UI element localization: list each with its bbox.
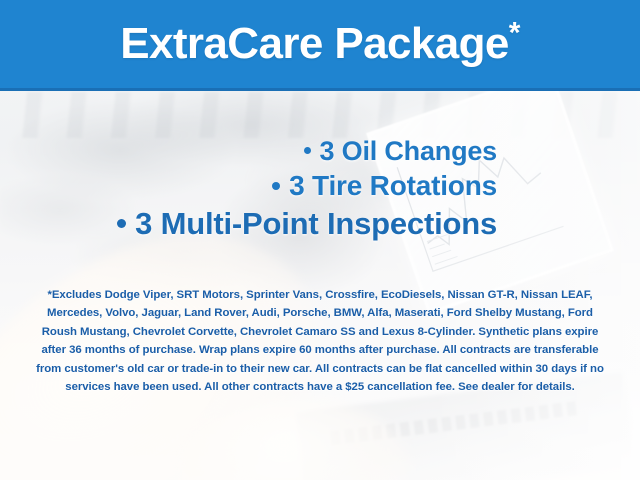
benefit-item-tire-rotations: 3 Tire Rotations xyxy=(0,168,497,204)
benefit-label: 3 Tire Rotations xyxy=(289,170,497,201)
header-band: ExtraCare Package* xyxy=(0,0,640,91)
bullet-dot-icon xyxy=(272,182,280,190)
benefits-list: 3 Oil Changes 3 Tire Rotations 3 Multi-P… xyxy=(0,134,640,244)
page-title-text: ExtraCare Package xyxy=(120,19,509,68)
benefit-item-multi-point-inspections: 3 Multi-Point Inspections xyxy=(0,204,497,244)
benefit-item-oil-changes: 3 Oil Changes xyxy=(0,134,497,168)
benefit-label: 3 Multi-Point Inspections xyxy=(135,206,497,241)
benefit-label: 3 Oil Changes xyxy=(320,136,497,166)
disclaimer-text: *Excludes Dodge Viper, SRT Motors, Sprin… xyxy=(34,286,606,396)
extracare-package-banner: ExtraCare Package* 3 Oil Changes 3 Tire … xyxy=(0,0,640,480)
page-title-asterisk: * xyxy=(509,16,520,49)
bullet-dot-icon xyxy=(304,147,311,154)
page-title: ExtraCare Package* xyxy=(120,22,520,66)
bullet-dot-icon xyxy=(117,219,126,228)
